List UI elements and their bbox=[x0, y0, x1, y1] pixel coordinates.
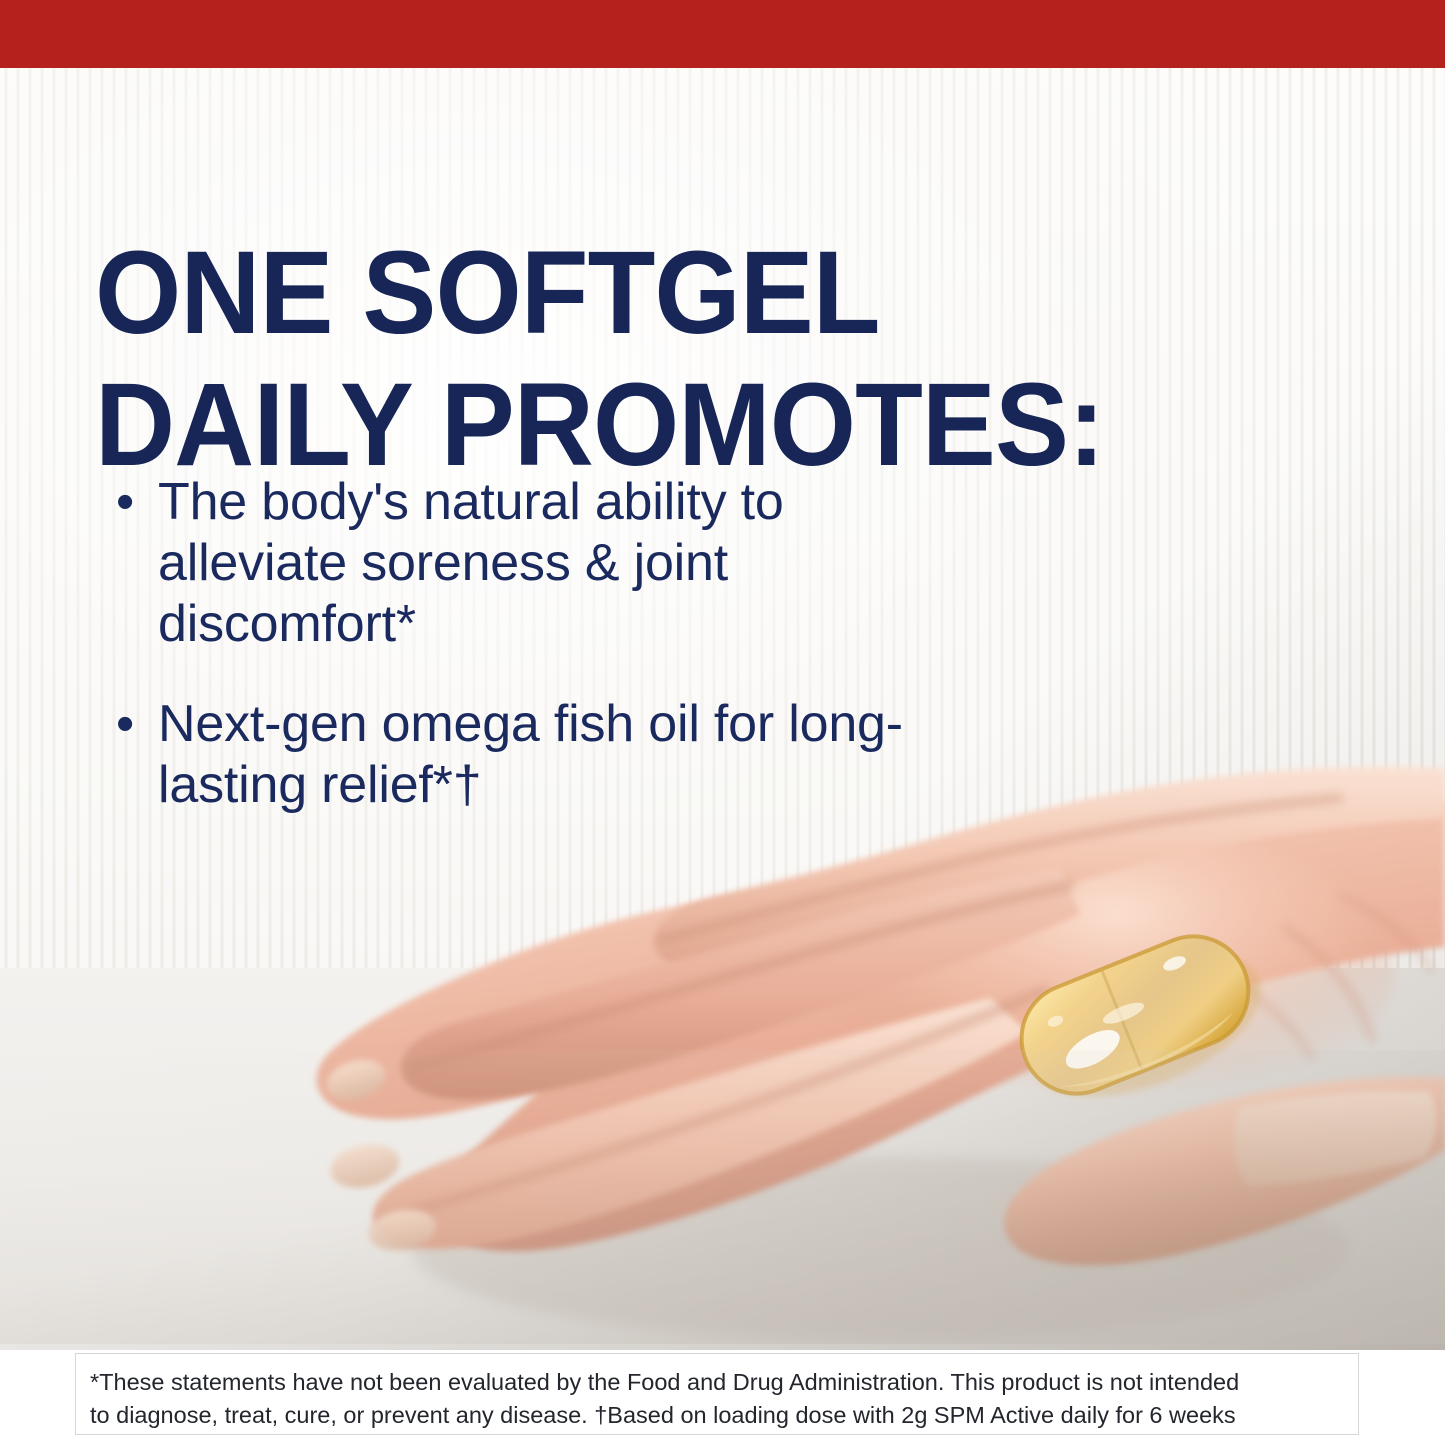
photo-bottom-edge bbox=[0, 1344, 1445, 1350]
product-feature-image: ONE SOFTGEL DAILY PROMOTES: • The body's… bbox=[0, 0, 1445, 1445]
list-item: • The body's natural ability to alleviat… bbox=[110, 472, 910, 654]
benefit-text: Next-gen omega fish oil for long-lasting… bbox=[158, 694, 910, 816]
bullet-marker-icon: • bbox=[110, 694, 158, 755]
photo-bottom-shading bbox=[0, 1050, 1445, 1350]
benefit-text: The body's natural ability to alleviate … bbox=[158, 472, 910, 654]
disclaimer-box: *These statements have not been evaluate… bbox=[75, 1353, 1359, 1435]
disclaimer-line-1: *These statements have not been evaluate… bbox=[90, 1366, 1344, 1399]
disclaimer-line-2: to diagnose, treat, cure, or prevent any… bbox=[90, 1399, 1344, 1432]
bullet-marker-icon: • bbox=[110, 472, 158, 533]
list-item: • Next-gen omega fish oil for long-lasti… bbox=[110, 694, 910, 816]
top-accent-bar bbox=[0, 0, 1445, 68]
headline-line-1: ONE SOFTGEL bbox=[95, 227, 1157, 359]
page-title: ONE SOFTGEL DAILY PROMOTES: bbox=[95, 227, 1157, 491]
benefits-list: • The body's natural ability to alleviat… bbox=[110, 472, 910, 856]
